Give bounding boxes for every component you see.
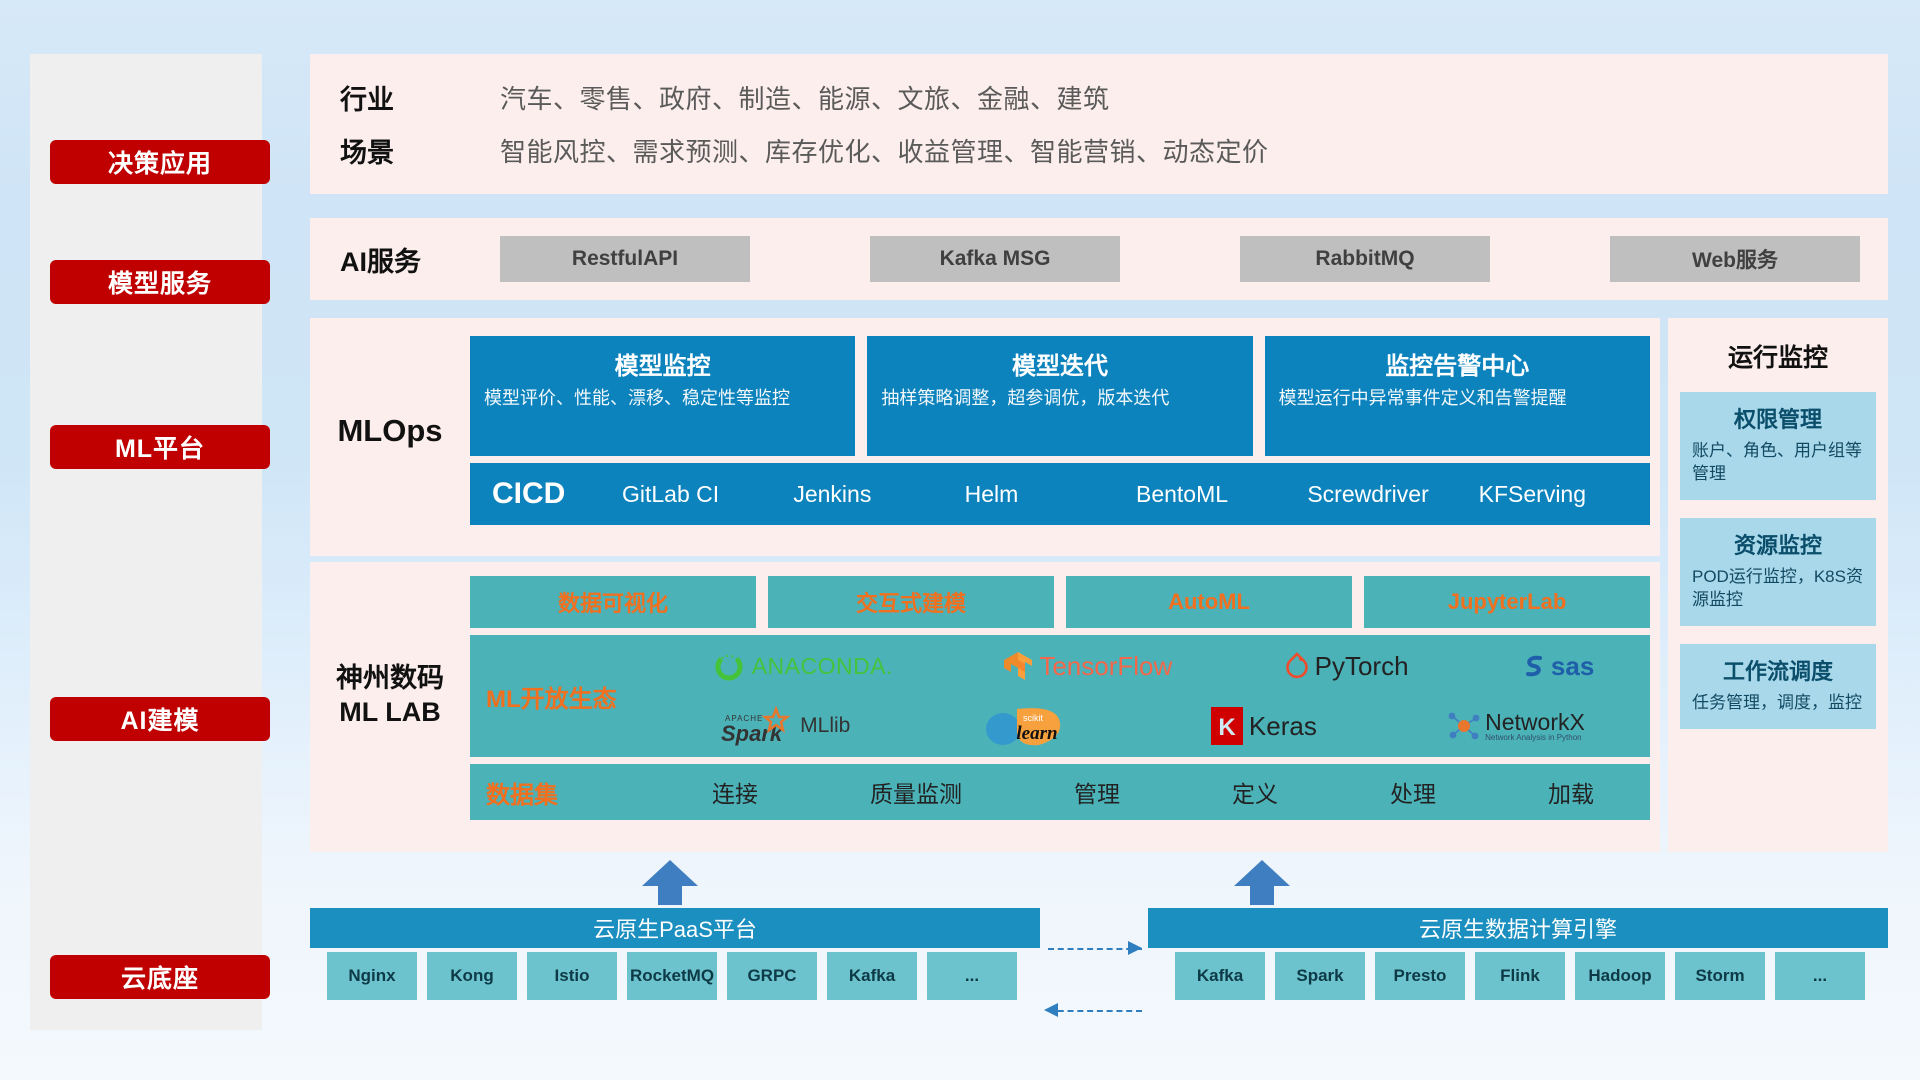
- keras-wordmark: Keras: [1249, 711, 1317, 742]
- dataset-item-process[interactable]: 处理: [1390, 775, 1436, 809]
- industry-row: 行业 汽车、零售、政府、制造、能源、文旅、金融、建筑: [340, 78, 1888, 117]
- ai-service-item-restfulapi[interactable]: RestfulAPI: [500, 236, 750, 282]
- ai-service-item-web-service[interactable]: Web服务: [1610, 236, 1860, 282]
- tensorflow-logo: TensorFlow: [1004, 650, 1172, 682]
- sidebar-item-cloud-base[interactable]: 云底座: [50, 955, 270, 999]
- chip-rocketmq[interactable]: RocketMQ: [627, 952, 717, 1000]
- card-title: 资源监控: [1692, 528, 1864, 560]
- chip-kafka[interactable]: Kafka: [827, 952, 917, 1000]
- networkx-logo: NetworkX Network Analysis in Python: [1447, 709, 1585, 743]
- cicd-row: CICD GitLab CI Jenkins Helm BentoML Scre…: [470, 463, 1650, 525]
- scenario-row: 场景 智能风控、需求预测、库存优化、收益管理、智能营销、动态定价: [340, 131, 1888, 170]
- tool-jupyterlab[interactable]: JupyterLab: [1364, 576, 1650, 628]
- mlops-card-model-monitoring[interactable]: 模型监控 模型评价、性能、漂移、稳定性等监控: [470, 336, 855, 456]
- dataset-items: 连接 质量监测 管理 定义 处理 加载: [656, 775, 1650, 809]
- chip-kafka-right[interactable]: Kafka: [1175, 952, 1265, 1000]
- cloud-native-paas-bar[interactable]: 云原生PaaS平台: [310, 908, 1040, 948]
- pytorch-wordmark: PyTorch: [1315, 651, 1409, 682]
- chip-hadoop[interactable]: Hadoop: [1575, 952, 1665, 1000]
- ai-service-label: AI服务: [340, 240, 500, 279]
- dataset-item-define[interactable]: 定义: [1232, 775, 1278, 809]
- networkx-tagline: Network Analysis in Python: [1485, 734, 1585, 742]
- chip-flink[interactable]: Flink: [1475, 952, 1565, 1000]
- mlops-label: MLOps: [310, 336, 470, 526]
- ecosystem-label: ML开放生态: [486, 679, 656, 714]
- chip-presto[interactable]: Presto: [1375, 952, 1465, 1000]
- card-title: 监控告警中心: [1279, 346, 1636, 381]
- chip-istio[interactable]: Istio: [527, 952, 617, 1000]
- ml-lab-tools: 数据可视化 交互式建模 AutoML JupyterLab: [470, 576, 1650, 628]
- scikit-learn-logo: scikit learn: [981, 703, 1081, 749]
- ml-open-ecosystem: ML开放生态 ANACONDA. Tens: [470, 635, 1650, 757]
- paas-component-chips: Nginx Kong Istio RocketMQ GRPC Kafka ...: [327, 952, 1017, 1000]
- tool-interactive-modeling[interactable]: 交互式建模: [768, 576, 1054, 628]
- chip-storm[interactable]: Storm: [1675, 952, 1765, 1000]
- ai-service-item-kafka-msg[interactable]: Kafka MSG: [870, 236, 1120, 282]
- card-title: 工作流调度: [1692, 654, 1864, 686]
- sidebar-item-ml-platform[interactable]: ML平台: [50, 425, 270, 469]
- cicd-label: CICD: [492, 477, 622, 511]
- chip-more-right[interactable]: ...: [1775, 952, 1865, 1000]
- arrow-up-left-icon: [640, 860, 700, 905]
- chip-spark[interactable]: Spark: [1275, 952, 1365, 1000]
- left-rail: [30, 54, 262, 1030]
- anaconda-logo: ANACONDA.: [712, 649, 893, 683]
- dataset-item-quality-monitoring[interactable]: 质量监测: [870, 775, 962, 809]
- cicd-item-kfserving[interactable]: KFServing: [1479, 481, 1650, 507]
- mlops-card-model-iteration[interactable]: 模型迭代 抽样策略调整，超参调优，版本迭代: [867, 336, 1252, 456]
- monitoring-card-permission[interactable]: 权限管理 账户、角色、用户组等管理: [1680, 392, 1876, 500]
- card-desc: POD运行监控，K8S资源监控: [1692, 566, 1864, 612]
- ecosystem-logos: ANACONDA. TensorFlow: [656, 637, 1650, 755]
- mlops-content: 模型监控 模型评价、性能、漂移、稳定性等监控 模型迭代 抽样策略调整，超参调优，…: [470, 336, 1660, 525]
- monitoring-panel-title: 运行监控: [1680, 338, 1876, 374]
- sidebar-item-decision-app[interactable]: 决策应用: [50, 140, 270, 184]
- scenario-values: 智能风控、需求预测、库存优化、收益管理、智能营销、动态定价: [500, 132, 1269, 169]
- spark-mllib-logo: APACHE Spark MLlib: [721, 705, 850, 747]
- monitoring-card-workflow[interactable]: 工作流调度 任务管理，调度，监控: [1680, 644, 1876, 729]
- monitoring-card-resource[interactable]: 资源监控 POD运行监控，K8S资源监控: [1680, 518, 1876, 626]
- card-desc: 抽样策略调整，超参调优，版本迭代: [881, 387, 1238, 410]
- arrow-up-right-icon: [1232, 860, 1292, 905]
- ai-service-band: AI服务 RestfulAPI Kafka MSG RabbitMQ Web服务: [310, 218, 1888, 300]
- sas-wordmark: sas: [1551, 651, 1594, 682]
- cicd-item-bentoml[interactable]: BentoML: [1136, 481, 1307, 507]
- anaconda-wordmark: ANACONDA.: [752, 653, 893, 680]
- dataset-label: 数据集: [486, 775, 656, 810]
- cicd-item-gitlab-ci[interactable]: GitLab CI: [622, 481, 793, 507]
- ecosystem-logo-row-2: APACHE Spark MLlib scikit learn: [656, 697, 1650, 755]
- card-desc: 任务管理，调度，监控: [1692, 692, 1864, 715]
- chip-kong[interactable]: Kong: [427, 952, 517, 1000]
- dash-arrow-right-icon: [1128, 941, 1144, 957]
- keras-logo: K Keras: [1211, 707, 1317, 745]
- sidebar-item-label: 云底座: [121, 959, 199, 995]
- sidebar-item-label: 模型服务: [108, 264, 212, 300]
- sidebar-item-label: ML平台: [115, 429, 205, 465]
- card-desc: 账户、角色、用户组等管理: [1692, 440, 1864, 486]
- mlops-band: MLOps 模型监控 模型评价、性能、漂移、稳定性等监控 模型迭代 抽样策略调整…: [310, 318, 1660, 556]
- networkx-wordmark: NetworkX: [1485, 711, 1585, 734]
- card-desc: 模型评价、性能、漂移、稳定性等监控: [484, 387, 841, 410]
- ml-lab-label-line2: ML LAB: [336, 696, 444, 730]
- dataset-item-manage[interactable]: 管理: [1074, 775, 1120, 809]
- compute-component-chips: Kafka Spark Presto Flink Hadoop Storm ..…: [1175, 952, 1865, 1000]
- ml-lab-content: 数据可视化 交互式建模 AutoML JupyterLab ML开放生态 ANA…: [470, 576, 1660, 820]
- cicd-item-helm[interactable]: Helm: [965, 481, 1136, 507]
- chip-more-left[interactable]: ...: [927, 952, 1017, 1000]
- cicd-item-jenkins[interactable]: Jenkins: [793, 481, 964, 507]
- sidebar-item-label: 决策应用: [108, 144, 212, 180]
- dash-arrow-left-icon: [1044, 1003, 1060, 1019]
- card-title: 模型监控: [484, 346, 841, 381]
- cloud-paas-label: 云原生PaaS平台: [593, 912, 757, 944]
- card-desc: 模型运行中异常事件定义和告警提醒: [1279, 387, 1636, 410]
- tool-data-visualization[interactable]: 数据可视化: [470, 576, 756, 628]
- cloud-native-compute-bar[interactable]: 云原生数据计算引擎: [1148, 908, 1888, 948]
- cicd-item-screwdriver[interactable]: Screwdriver: [1307, 481, 1478, 507]
- industry-label: 行业: [340, 78, 500, 117]
- card-title: 模型迭代: [881, 346, 1238, 381]
- chip-grpc[interactable]: GRPC: [727, 952, 817, 1000]
- sas-logo: sas: [1520, 651, 1594, 682]
- industry-scenario-band: 行业 汽车、零售、政府、制造、能源、文旅、金融、建筑 场景 智能风控、需求预测、…: [310, 54, 1888, 194]
- mllib-wordmark: MLlib: [800, 714, 850, 738]
- svg-text:K: K: [1218, 714, 1236, 741]
- ml-lab-band: 神州数码 ML LAB 数据可视化 交互式建模 AutoML JupyterLa…: [310, 562, 1660, 852]
- mlops-card-alert-center[interactable]: 监控告警中心 模型运行中异常事件定义和告警提醒: [1265, 336, 1650, 456]
- dash-connector-bottom: [1048, 1010, 1142, 1012]
- card-title: 权限管理: [1692, 402, 1864, 434]
- dataset-item-connect[interactable]: 连接: [712, 775, 758, 809]
- cloud-compute-label: 云原生数据计算引擎: [1419, 912, 1617, 944]
- svg-text:learn: learn: [1016, 723, 1057, 744]
- runtime-monitoring-panel: 运行监控 权限管理 账户、角色、用户组等管理 资源监控 POD运行监控，K8S资…: [1668, 318, 1888, 852]
- sidebar-item-label: AI建模: [120, 701, 199, 737]
- ai-service-item-rabbitmq[interactable]: RabbitMQ: [1240, 236, 1490, 282]
- ml-lab-label: 神州数码 ML LAB: [310, 576, 470, 816]
- ai-service-items: RestfulAPI Kafka MSG RabbitMQ Web服务: [500, 236, 1888, 282]
- chip-nginx[interactable]: Nginx: [327, 952, 417, 1000]
- dataset-row: 数据集 连接 质量监测 管理 定义 处理 加载: [470, 764, 1650, 820]
- svg-text:scikit: scikit: [1023, 713, 1043, 723]
- cicd-items: GitLab CI Jenkins Helm BentoML Screwdriv…: [622, 481, 1650, 507]
- sidebar-item-model-service[interactable]: 模型服务: [50, 260, 270, 304]
- tensorflow-wordmark: TensorFlow: [1039, 651, 1172, 682]
- ml-lab-label-line1: 神州数码: [336, 662, 444, 696]
- dataset-item-load[interactable]: 加载: [1548, 775, 1594, 809]
- ecosystem-logo-row-1: ANACONDA. TensorFlow: [656, 637, 1650, 695]
- scenario-label: 场景: [340, 131, 500, 170]
- tool-automl[interactable]: AutoML: [1066, 576, 1352, 628]
- pytorch-logo: PyTorch: [1284, 651, 1409, 682]
- sidebar-item-ai-modeling[interactable]: AI建模: [50, 697, 270, 741]
- industry-values: 汽车、零售、政府、制造、能源、文旅、金融、建筑: [500, 79, 1110, 116]
- mlops-cards: 模型监控 模型评价、性能、漂移、稳定性等监控 模型迭代 抽样策略调整，超参调优，…: [470, 336, 1650, 456]
